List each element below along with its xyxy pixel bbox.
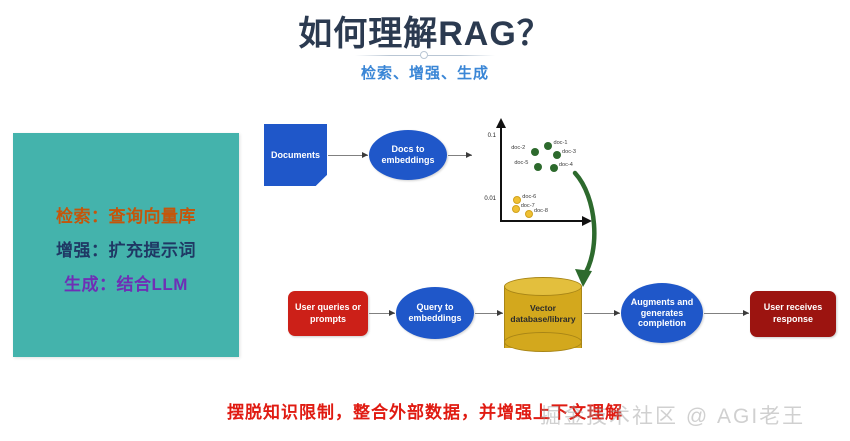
scatter-point-doc-1 — [544, 142, 552, 150]
y-axis-arrow-icon — [496, 118, 506, 128]
cylinder-top — [504, 277, 582, 296]
scatter-point-doc-2 — [531, 148, 539, 156]
scatter-point-label-doc-5: doc-5 — [514, 160, 528, 166]
y-tick-label-top: 0.1 — [470, 133, 496, 139]
scatter-point-doc-8 — [525, 210, 533, 218]
embeddings-to-database-curved-arrow — [555, 165, 615, 290]
page-subtitle: 检索、增强、生成 — [0, 62, 850, 83]
scatter-point-doc-7 — [512, 205, 520, 213]
summary-line-augmentation: 增强：扩充提示词 — [13, 236, 239, 261]
scatter-point-label-doc-6: doc-6 — [522, 194, 536, 200]
y-axis — [500, 126, 502, 222]
title-divider — [355, 50, 495, 60]
summary-line-generation: 生成：结合LLM — [13, 270, 239, 295]
arrow-head-icon — [743, 310, 749, 316]
query-to-embeddings-node: Query to embeddings — [396, 287, 474, 339]
user-receives-response-node: User receives response — [750, 291, 836, 337]
arrow-embeddings-to-database — [475, 310, 503, 317]
scatter-point-label-doc-3: doc-3 — [562, 149, 576, 155]
docs-to-embeddings-node: Docs to embeddings — [369, 130, 447, 180]
arrow-augments-to-response — [704, 310, 749, 317]
arrow-head-icon — [497, 310, 503, 316]
scatter-point-label-doc-2: doc-2 — [511, 145, 525, 151]
arrow-head-icon — [362, 152, 368, 158]
summary-panel: 检索：查询向量库 增强：扩充提示词 生成：结合LLM — [13, 133, 239, 357]
vector-database-label: Vector database/library — [504, 303, 582, 325]
slide-canvas: 如何理解RAG？ 检索、增强、生成 检索：查询向量库 增强：扩充提示词 生成：结… — [0, 0, 850, 441]
scatter-point-doc-3 — [553, 151, 561, 159]
user-queries-node: User queries or prompts — [288, 291, 368, 336]
divider-dot-icon — [420, 51, 428, 59]
scatter-point-label-doc-8: doc-8 — [534, 208, 548, 214]
watermark: 掘金技术社区 @ AGI老王 — [540, 400, 805, 430]
scatter-point-label-doc-1: doc-1 — [553, 140, 567, 146]
y-tick-label-bottom: 0.01 — [470, 196, 496, 202]
augments-node: Augments and generates completion — [621, 283, 703, 343]
scatter-point-label-doc-7: doc-7 — [521, 203, 535, 209]
arrow-documents-to-embeddings — [328, 152, 368, 159]
arrow-database-to-augments — [584, 310, 620, 317]
scatter-point-doc-5 — [534, 163, 542, 171]
documents-node: Documents — [264, 124, 327, 186]
arrow-queries-to-embeddings — [369, 310, 395, 317]
page-title: 如何理解RAG？ — [0, 6, 850, 55]
arrow-head-icon — [614, 310, 620, 316]
arrow-head-icon — [389, 310, 395, 316]
summary-line-retrieval: 检索：查询向量库 — [13, 202, 239, 227]
vector-database-node: Vector database/library — [504, 277, 582, 355]
cylinder-bottom — [504, 332, 582, 352]
